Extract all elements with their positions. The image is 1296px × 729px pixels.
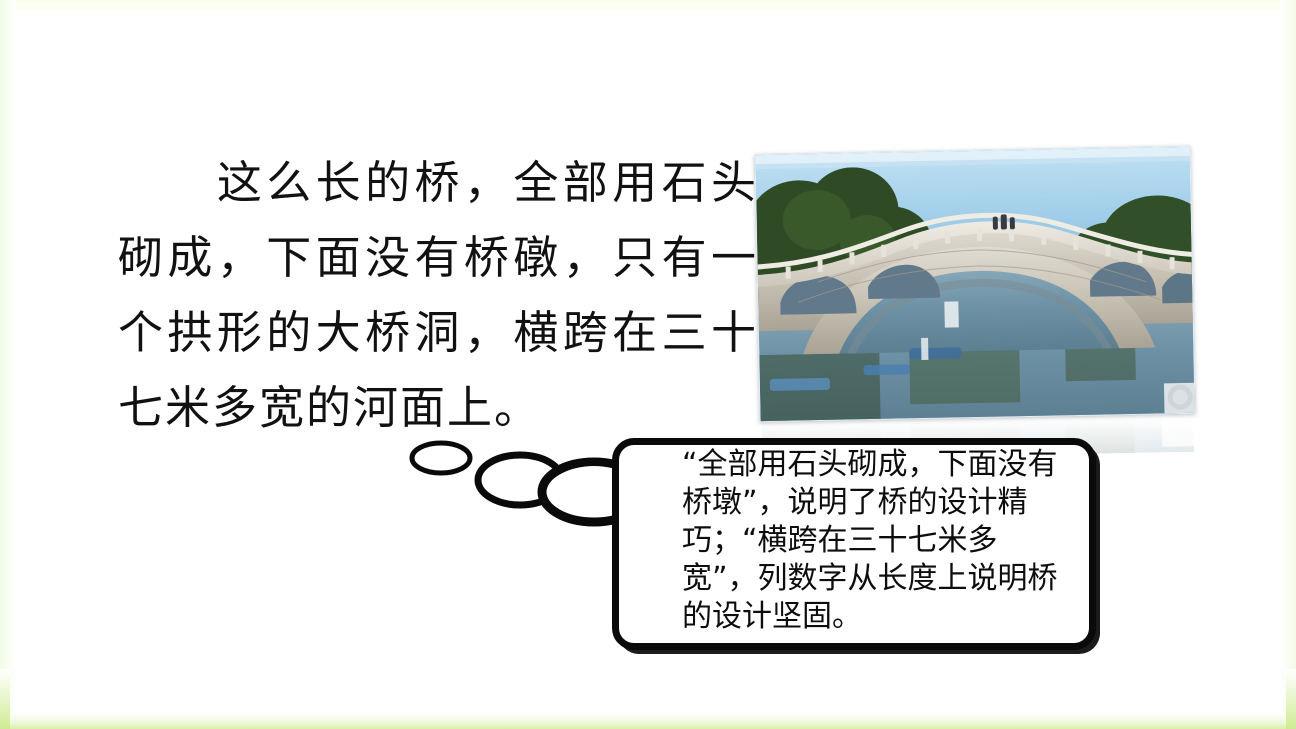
slide-border-bottom xyxy=(0,713,1296,729)
lesson-passage: 这么长的桥，全部用石头砌成，下面没有桥礅，只有一个拱形的大桥洞，横跨在三十七米多… xyxy=(118,146,758,446)
analysis-callout: “全部用石头砌成，下面没有桥墩”，说明了桥的设计精巧；“横跨在三十七米多宽”，列… xyxy=(612,438,1096,650)
slide-corner-bottom-right xyxy=(1286,669,1296,729)
slide-border-top xyxy=(0,0,1296,14)
thought-bubble-small xyxy=(412,443,470,473)
bridge-photo-image xyxy=(754,146,1195,422)
bridge-illustration xyxy=(755,147,1195,422)
slide-border-right xyxy=(1280,0,1296,729)
slide-corner-bottom-left xyxy=(0,669,10,729)
bridge-photo-frame xyxy=(754,146,1195,422)
slide-canvas: 这么长的桥，全部用石头砌成，下面没有桥礅，只有一个拱形的大桥洞，横跨在三十七米多… xyxy=(0,0,1296,729)
analysis-callout-text: “全部用石头砌成，下面没有桥墩”，说明了桥的设计精巧；“横跨在三十七米多宽”，列… xyxy=(682,446,1072,636)
slide-border-left xyxy=(0,0,16,729)
